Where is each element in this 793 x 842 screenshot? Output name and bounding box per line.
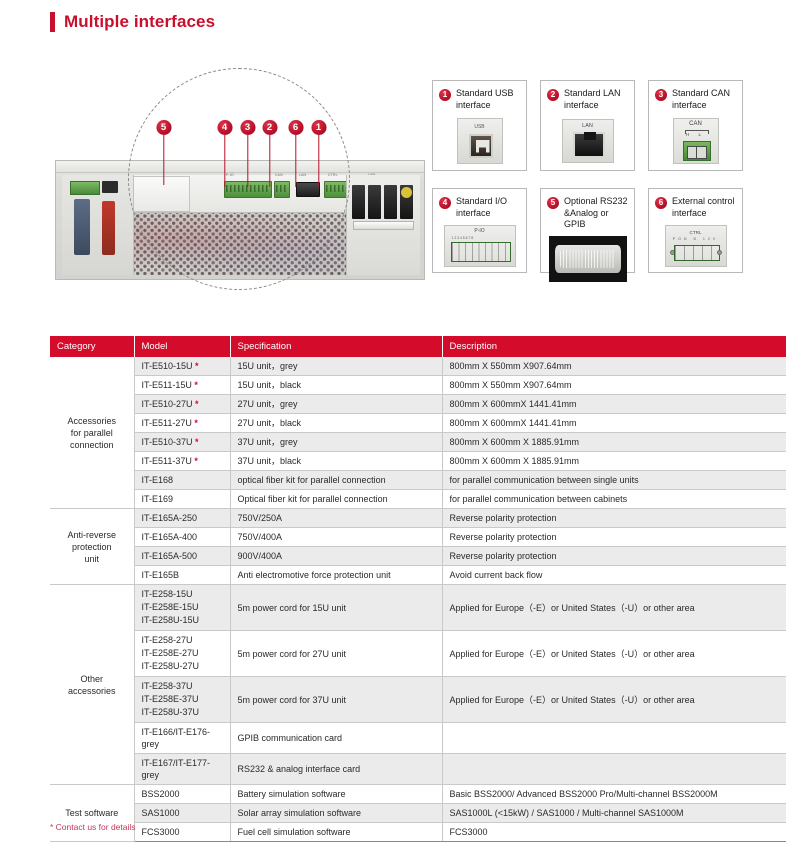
cell-specification: Fuel cell simulation software (230, 823, 442, 842)
table-row: FCS3000Fuel cell simulation softwareFCS3… (50, 823, 786, 842)
cell-model: IT-E511-37U * (134, 452, 230, 471)
lan-port-icon: LAN (562, 119, 614, 163)
gpib-port-icon (549, 236, 627, 282)
card-title: Standard LAN interface (564, 88, 628, 111)
cell-model: IT-E511-27U * (134, 414, 230, 433)
card-photo: CAN H L (655, 116, 736, 165)
cell-specification: GPIB communication card (230, 723, 442, 754)
cell-specification: 27U unit，black (230, 414, 442, 433)
callout-leader-line (318, 135, 319, 187)
table-row: Test softwareBSS2000Battery simulation s… (50, 785, 786, 804)
left-green-terminal (70, 181, 100, 195)
cell-specification: RS232 & analog interface card (230, 754, 442, 785)
left-cable-grey (74, 199, 90, 255)
cell-description: FCS3000 (442, 823, 786, 842)
interface-card-rs232-gpib[interactable]: 5 Optional RS232 &Analog or GPIB (540, 188, 635, 273)
cell-specification: Anti electromotive force protection unit (230, 566, 442, 585)
busbar (353, 221, 414, 230)
callout-leader-line (247, 135, 248, 187)
cell-description: SAS1000L (<15kW) / SAS1000 / Multi-chann… (442, 804, 786, 823)
callout-badge: 2 (262, 120, 277, 135)
column-header-model: Model (134, 336, 230, 357)
cell-model: FCS3000 (134, 823, 230, 842)
usb-port-icon: USB (457, 118, 503, 164)
cell-description (442, 723, 786, 754)
can-terminal (683, 141, 711, 161)
usb-b-receptacle (469, 134, 493, 158)
interface-card-lan[interactable]: 2 Standard LAN interface LAN (540, 80, 635, 171)
card-header: 2 Standard LAN interface (547, 88, 628, 111)
ctrl-screw-right (717, 250, 722, 255)
cell-specification: 37U unit，grey (230, 433, 442, 452)
card-number-badge: 1 (439, 89, 451, 101)
callout-leader-line (295, 135, 296, 187)
table-row: SAS1000Solar array simulation softwareSA… (50, 804, 786, 823)
table-header-row: Category Model Specification Description (50, 336, 786, 357)
callout-badge: 6 (288, 120, 303, 135)
cell-model: IT-E511-15U * (134, 376, 230, 395)
card-header: 5 Optional RS232 &Analog or GPIB (547, 196, 628, 231)
lan-panel-label: LAN (299, 173, 306, 177)
contact-star-marker: * (192, 418, 198, 428)
io-port-icon: P-IO 1 2 3 4 5 6 7 8 (444, 225, 516, 267)
cell-description: 800mm X 550mm X907.64mm (442, 376, 786, 395)
table-row: IT-E258-37UIT-E258E-37UIT-E258U-37U5m po… (50, 677, 786, 723)
table-row: IT-E165BAnti electromotive force protect… (50, 566, 786, 585)
product-rear-panel-figure: P-IO CAN LAN CTRL USB 5 (50, 60, 435, 295)
cell-specification: 37U unit，black (230, 452, 442, 471)
cell-description: Reverse polarity protection (442, 547, 786, 566)
card-title: Standard CAN interface (672, 88, 736, 111)
callout-leader-line (269, 135, 270, 187)
table-row: Accessoriesfor parallelconnectionIT-E510… (50, 357, 786, 376)
card-number-badge: 2 (547, 89, 559, 101)
cell-model: IT-E165A-400 (134, 528, 230, 547)
cell-specification: 750V/250A (230, 509, 442, 528)
cell-model: IT-E165B (134, 566, 230, 585)
cell-description: 800mm X 550mm X907.64mm (442, 357, 786, 376)
lan-port-connector (296, 182, 320, 197)
usb-icon-label: USB (458, 124, 502, 130)
interface-card-grid: 1 Standard USB interface USB 2 Standard … (432, 80, 744, 273)
cell-description: Applied for Europe（-E）or United States（-… (442, 677, 786, 723)
cell-description: 800mm X 600mm X 1885.91mm (442, 452, 786, 471)
card-number-badge: 5 (547, 197, 559, 209)
io-terminal-strip (451, 242, 511, 262)
cell-specification: Solar array simulation software (230, 804, 442, 823)
interface-card-io[interactable]: 4 Standard I/O interface P-IO 1 2 3 4 5 … (432, 188, 527, 273)
callout-badge: 5 (156, 120, 171, 135)
card-title: External control interface (672, 196, 736, 219)
table-body: Accessoriesfor parallelconnectionIT-E510… (50, 357, 786, 842)
callout-badge: 4 (217, 120, 232, 135)
cell-model: IT-E510-15U * (134, 357, 230, 376)
card-header: 4 Standard I/O interface (439, 196, 520, 219)
ctrl-pin-labels: PON B 12V (666, 237, 726, 241)
can-panel-label: CAN (275, 173, 283, 177)
cell-model: BSS2000 (134, 785, 230, 804)
cell-description (442, 754, 786, 785)
cell-category: Otheraccessories (50, 585, 134, 785)
cell-description: 800mm X 600mmX 1441.41mm (442, 414, 786, 433)
card-header: 3 Standard CAN interface (655, 88, 736, 111)
cell-model: IT-E258-15UIT-E258E-15UIT-E258U-15U (134, 585, 230, 631)
column-header-category: Category (50, 336, 134, 357)
card-photo (547, 236, 628, 282)
card-number-badge: 3 (655, 89, 667, 101)
rj45-receptacle (573, 132, 605, 158)
cell-specification: Optical fiber kit for parallel connectio… (230, 490, 442, 509)
table-row: IT-E511-37U *37U unit，black800mm X 600mm… (50, 452, 786, 471)
cell-model: IT-E166/IT-E176-grey (134, 723, 230, 754)
cell-specification: 27U unit，grey (230, 395, 442, 414)
pio-panel-label: P-IO (226, 173, 234, 177)
interface-card-external-control[interactable]: 6 External control interface CTRL PON B … (648, 188, 743, 273)
table-row: IT-E165A-400750V/400AReverse polarity pr… (50, 528, 786, 547)
cell-description: for parallel communication between cabin… (442, 490, 786, 509)
table-row: IT-E167/IT-E177-greyRS232 & analog inter… (50, 754, 786, 785)
cell-description: Applied for Europe（-E）or United States（-… (442, 585, 786, 631)
cell-model: IT-E510-37U * (134, 433, 230, 452)
contact-star-marker: * (192, 456, 198, 466)
table-row: IT-E511-15U *15U unit，black800mm X 550mm… (50, 376, 786, 395)
cell-category: Accessoriesfor parallelconnection (50, 357, 134, 509)
card-number-badge: 6 (655, 197, 667, 209)
card-photo: CTRL PON B 12V (655, 224, 736, 267)
table-footnote: * Contact us for details (50, 822, 136, 832)
cell-model: IT-E258-37UIT-E258E-37UIT-E258U-37U (134, 677, 230, 723)
left-cable-red (102, 201, 115, 255)
card-title: Optional RS232 &Analog or GPIB (564, 196, 628, 231)
cell-specification: Battery simulation software (230, 785, 442, 804)
callout-badge: 3 (240, 120, 255, 135)
ctrl-panel-label: CTRL (328, 173, 338, 177)
cell-specification: optical fiber kit for parallel connectio… (230, 471, 442, 490)
breaker-2 (368, 185, 381, 219)
io-pin-numbers: 1 2 3 4 5 6 7 8 (452, 236, 510, 240)
card-photo: P-IO 1 2 3 4 5 6 7 8 (439, 224, 520, 267)
card-title: Standard USB interface (456, 88, 520, 111)
cell-specification: 5m power cord for 15U unit (230, 585, 442, 631)
cell-description: Basic BSS2000/ Advanced BSS2000 Pro/Mult… (442, 785, 786, 804)
page-title-block: Multiple interfaces (50, 12, 215, 32)
can-icon-label: CAN (674, 121, 718, 127)
breaker-1 (352, 185, 365, 219)
right-breaker-block (346, 175, 420, 275)
cell-specification: 15U unit，grey (230, 357, 442, 376)
accessories-spec-table: Category Model Specification Description… (50, 336, 786, 842)
yellow-indicator (401, 187, 412, 198)
cell-category: Test software (50, 785, 134, 842)
table-row: IT-E258-27UIT-E258E-27UIT-E258U-27U5m po… (50, 631, 786, 677)
callout-leader-line (224, 135, 225, 187)
table-row: IT-E510-37U *37U unit，grey800mm X 600mm … (50, 433, 786, 452)
left-terminal-block (62, 175, 134, 275)
cell-description: 800mm X 600mm X 1885.91mm (442, 433, 786, 452)
page-title: Multiple interfaces (64, 12, 215, 32)
cell-model: IT-E258-27UIT-E258E-27UIT-E258U-27U (134, 631, 230, 677)
table-row: Anti-reverseprotectionunitIT-E165A-25075… (50, 509, 786, 528)
cell-model: IT-E167/IT-E177-grey (134, 754, 230, 785)
gpib-pin-block (560, 250, 616, 268)
interface-card-can[interactable]: 3 Standard CAN interface CAN H L (648, 80, 743, 171)
cell-model: IT-E165A-250 (134, 509, 230, 528)
column-header-specification: Specification (230, 336, 442, 357)
interface-card-usb[interactable]: 1 Standard USB interface USB (432, 80, 527, 171)
gpib-shell (555, 245, 621, 273)
card-header: 6 External control interface (655, 196, 736, 219)
cell-category: Anti-reverseprotectionunit (50, 509, 134, 585)
ctrl-icon-label: CTRL (666, 230, 726, 235)
left-black-terminal (102, 181, 118, 193)
callout-leader-line (163, 135, 164, 185)
card-number-badge: 4 (439, 197, 451, 209)
table-row: IT-E165A-500900V/400AReverse polarity pr… (50, 547, 786, 566)
lan-icon-label: LAN (563, 123, 613, 129)
can-terminal-connector (274, 181, 290, 198)
card-photo: LAN (547, 116, 628, 165)
cell-model: IT-E510-27U * (134, 395, 230, 414)
table-row: IT-E166/IT-E176-greyGPIB communication c… (50, 723, 786, 754)
ctrl-terminal (674, 245, 720, 261)
io-icon-label: P-IO (445, 228, 515, 234)
card-header: 1 Standard USB interface (439, 88, 520, 111)
ctrl-port-icon: CTRL PON B 12V (665, 225, 727, 267)
cell-model: IT-E169 (134, 490, 230, 509)
title-accent-bar (50, 12, 55, 32)
table-row: IT-E169Optical fiber kit for parallel co… (50, 490, 786, 509)
callout-badge: 1 (311, 120, 326, 135)
can-pin-labels: H L (674, 132, 718, 137)
cell-specification: 5m power cord for 37U unit (230, 677, 442, 723)
table-row: OtheraccessoriesIT-E258-15UIT-E258E-15UI… (50, 585, 786, 631)
table-row: IT-E168optical fiber kit for parallel co… (50, 471, 786, 490)
cell-specification: 900V/400A (230, 547, 442, 566)
table-row: IT-E511-27U *27U unit，black800mm X 600mm… (50, 414, 786, 433)
chassis-top-strip (56, 161, 424, 173)
card-photo: USB (439, 116, 520, 165)
contact-star-marker: * (192, 380, 198, 390)
cell-description: 800mm X 600mmX 1441.41mm (442, 395, 786, 414)
cell-description: Applied for Europe（-E）or United States（-… (442, 631, 786, 677)
breaker-3 (384, 185, 397, 219)
can-port-icon: CAN H L (673, 118, 719, 164)
cell-description: Reverse polarity protection (442, 528, 786, 547)
cell-description: Avoid current back flow (442, 566, 786, 585)
device-chassis: P-IO CAN LAN CTRL USB (55, 160, 425, 280)
cell-specification: 750V/400A (230, 528, 442, 547)
cell-description: for parallel communication between singl… (442, 471, 786, 490)
table-row: IT-E510-27U *27U unit，grey800mm X 600mmX… (50, 395, 786, 414)
contact-star-marker: * (193, 361, 199, 371)
cell-specification: 15U unit，black (230, 376, 442, 395)
contact-star-marker: * (193, 437, 199, 447)
cell-model: IT-E165A-500 (134, 547, 230, 566)
cell-model: IT-E168 (134, 471, 230, 490)
cell-model: SAS1000 (134, 804, 230, 823)
cell-description: Reverse polarity protection (442, 509, 786, 528)
contact-star-marker: * (193, 399, 199, 409)
card-title: Standard I/O interface (456, 196, 520, 219)
cell-specification: 5m power cord for 27U unit (230, 631, 442, 677)
column-header-description: Description (442, 336, 786, 357)
table-head: Category Model Specification Description (50, 336, 786, 357)
